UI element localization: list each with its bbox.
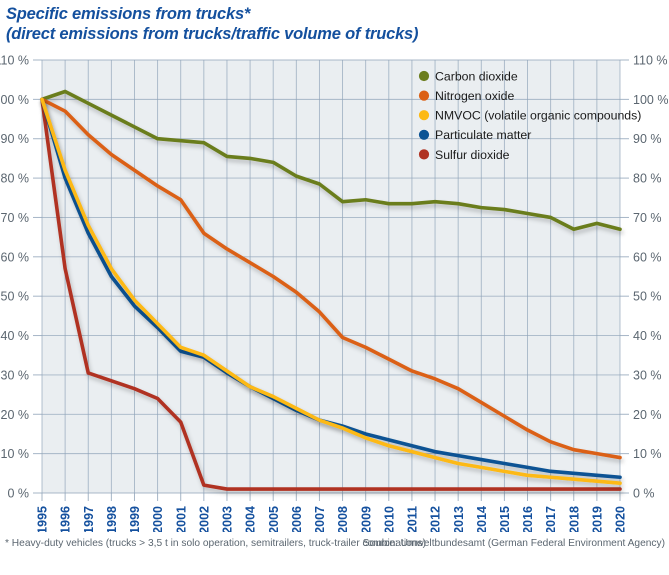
x-axis-tick-label: 2019: [590, 506, 604, 532]
x-axis-tick-label: 2006: [290, 506, 304, 532]
y-axis-tick-label: 30 %: [1, 368, 30, 382]
x-axis-tick-label: 2014: [475, 506, 489, 532]
legend-label: NMVOC (volatile organic compounds): [435, 109, 641, 123]
x-axis-tick-label: 1997: [82, 506, 96, 532]
legend-label: Sulfur dioxide: [435, 148, 510, 162]
legend-swatch-nmvoc-volatile-organic-compounds: [419, 110, 429, 120]
y-axis-tick-label: 80 %: [633, 172, 662, 186]
x-axis-tick-label: 2016: [521, 506, 535, 532]
y-axis-tick-label: 90 %: [633, 132, 662, 146]
y-axis-tick-label: 0 %: [7, 487, 29, 501]
page-title: Specific emissions from trucks* (direct …: [6, 4, 646, 44]
y-axis-tick-label: 10 %: [633, 447, 662, 461]
legend-swatch-particulate-matter: [419, 130, 429, 140]
y-axis-tick-label: 60 %: [1, 250, 30, 264]
title-line-2: (direct emissions from trucks/traffic vo…: [6, 24, 646, 44]
x-axis-tick-label: 1996: [59, 506, 73, 532]
y-axis-tick-label: 10 %: [1, 447, 30, 461]
x-axis-tick-label: 2017: [544, 506, 558, 532]
y-axis-tick-label: 50 %: [633, 290, 662, 304]
legend-swatch-nitrogen-oxide: [419, 91, 429, 101]
x-axis-tick-label: 2020: [614, 506, 628, 532]
x-axis-tick-label: 2003: [221, 506, 235, 532]
x-axis-tick-label: 2012: [429, 506, 443, 532]
y-axis-tick-label: 20 %: [1, 408, 30, 422]
x-axis-labels: 1995199619971998199920002001200220032004…: [36, 506, 628, 532]
x-axis-tick-label: 2018: [567, 506, 581, 532]
x-axis-tick-label: 2015: [498, 506, 512, 532]
x-axis-tick-label: 1999: [128, 506, 142, 532]
y-axis-labels-left: 0 %10 %20 %30 %40 %50 %60 %70 %80 %90 %1…: [0, 54, 29, 501]
x-axis-tick-label: 2001: [174, 506, 188, 532]
x-axis-tick-label: 2005: [267, 506, 281, 532]
y-axis-tick-label: 70 %: [633, 211, 662, 225]
y-axis-tick-label: 30 %: [633, 368, 662, 382]
legend-label: Carbon dioxide: [435, 69, 518, 83]
y-axis-tick-label: 110 %: [0, 54, 29, 68]
x-axis-tick-label: 2004: [244, 506, 258, 532]
legend-label: Particulate matter: [435, 128, 531, 142]
source-text: Source: Umweltbundesamt (German Federal …: [363, 538, 665, 549]
footer: * Heavy-duty vehicles (trucks > 3,5 t in…: [0, 538, 669, 562]
x-axis-tick-label: 2010: [382, 506, 396, 532]
x-axis-tick-label: 2000: [151, 506, 165, 532]
legend-label: Nitrogen oxide: [435, 89, 514, 103]
y-axis-tick-label: 40 %: [1, 329, 30, 343]
y-axis-tick-label: 50 %: [1, 290, 30, 304]
legend-swatch-sulfur-dioxide: [419, 149, 429, 159]
y-axis-tick-label: 70 %: [1, 211, 30, 225]
x-axis-tick-label: 2011: [406, 506, 420, 532]
y-axis-tick-label: 80 %: [1, 172, 30, 186]
chart-container: 0 %10 %20 %30 %40 %50 %60 %70 %80 %90 %1…: [0, 52, 669, 532]
x-axis-tick-label: 2009: [359, 506, 373, 532]
x-axis-tick-label: 1995: [36, 506, 50, 532]
y-axis-tick-label: 40 %: [633, 329, 662, 343]
legend-swatch-carbon-dioxide: [419, 71, 429, 81]
chart-page: Specific emissions from trucks* (direct …: [0, 0, 669, 575]
title-line-1: Specific emissions from trucks*: [6, 4, 646, 24]
x-axis-tick-label: 2013: [452, 506, 466, 532]
x-axis-tick-label: 2002: [197, 506, 211, 532]
x-axis-ticks: [42, 493, 620, 501]
y-axis-tick-label: 0 %: [633, 487, 655, 501]
y-axis-tick-label: 100 %: [633, 93, 668, 107]
y-axis-tick-label: 90 %: [1, 132, 30, 146]
x-axis-tick-label: 2007: [313, 506, 327, 532]
y-axis-tick-label: 110 %: [633, 54, 668, 68]
y-axis-tick-label: 100 %: [0, 93, 29, 107]
x-axis-tick-label: 1998: [105, 506, 119, 532]
y-axis-tick-label: 20 %: [633, 408, 662, 422]
y-axis-tick-label: 60 %: [633, 250, 662, 264]
x-axis-tick-label: 2008: [336, 506, 350, 532]
emissions-line-chart: 0 %10 %20 %30 %40 %50 %60 %70 %80 %90 %1…: [0, 52, 669, 532]
